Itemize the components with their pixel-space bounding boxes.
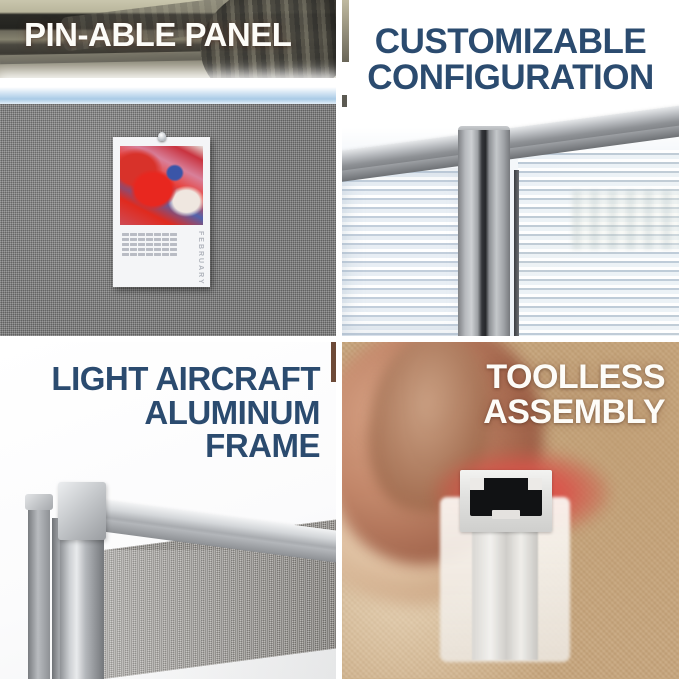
extrusion-inner-foot [492,510,520,519]
panel-light-aircraft-aluminum-frame: LIGHT AIRCRAFT ALUMINUM FRAME [0,342,336,679]
panel-caption-customizable-configuration: CUSTOMIZABLE CONFIGURATION [342,24,679,95]
panel-customizable-configuration: CUSTOMIZABLE CONFIGURATION [342,0,679,336]
left-edge-stub-lower [342,95,347,107]
aluminum-post-rear-cap [25,494,53,510]
extrusion-notch-left [470,478,484,490]
wall-calendar: FEBRUARY [113,137,210,287]
right-edge-sliver [331,342,336,382]
panel-toolless-assembly: TOOLLESS ASSEMBLY [342,342,679,679]
calendar-artwork [120,146,203,225]
window-blinds-left [342,168,470,336]
feature-grid: FEBRUARY PIN-ABLE PANEL CUSTOMIZABLE CON… [0,0,679,679]
panel-caption-pin-able-panel: PIN-ABLE PANEL [24,18,291,52]
calendar-date-grid [122,233,177,256]
aluminum-corner-block [58,482,106,540]
extrusion-stem [472,530,538,660]
aluminum-post-rear [28,502,50,679]
aluminum-post-front [60,532,104,679]
panel-pin-able-panel: FEBRUARY PIN-ABLE PANEL [0,0,336,336]
calendar-month-label: FEBRUARY [197,231,204,286]
aluminum-post [458,130,510,336]
glass-mullion [514,170,519,336]
panel-caption-light-aircraft-aluminum-frame: LIGHT AIRCRAFT ALUMINUM FRAME [51,362,320,463]
panel-caption-toolless-assembly: TOOLLESS ASSEMBLY [483,360,665,429]
push-pin-icon [158,132,166,141]
city-view-blur [572,190,679,250]
extrusion-notch-right [528,478,542,490]
